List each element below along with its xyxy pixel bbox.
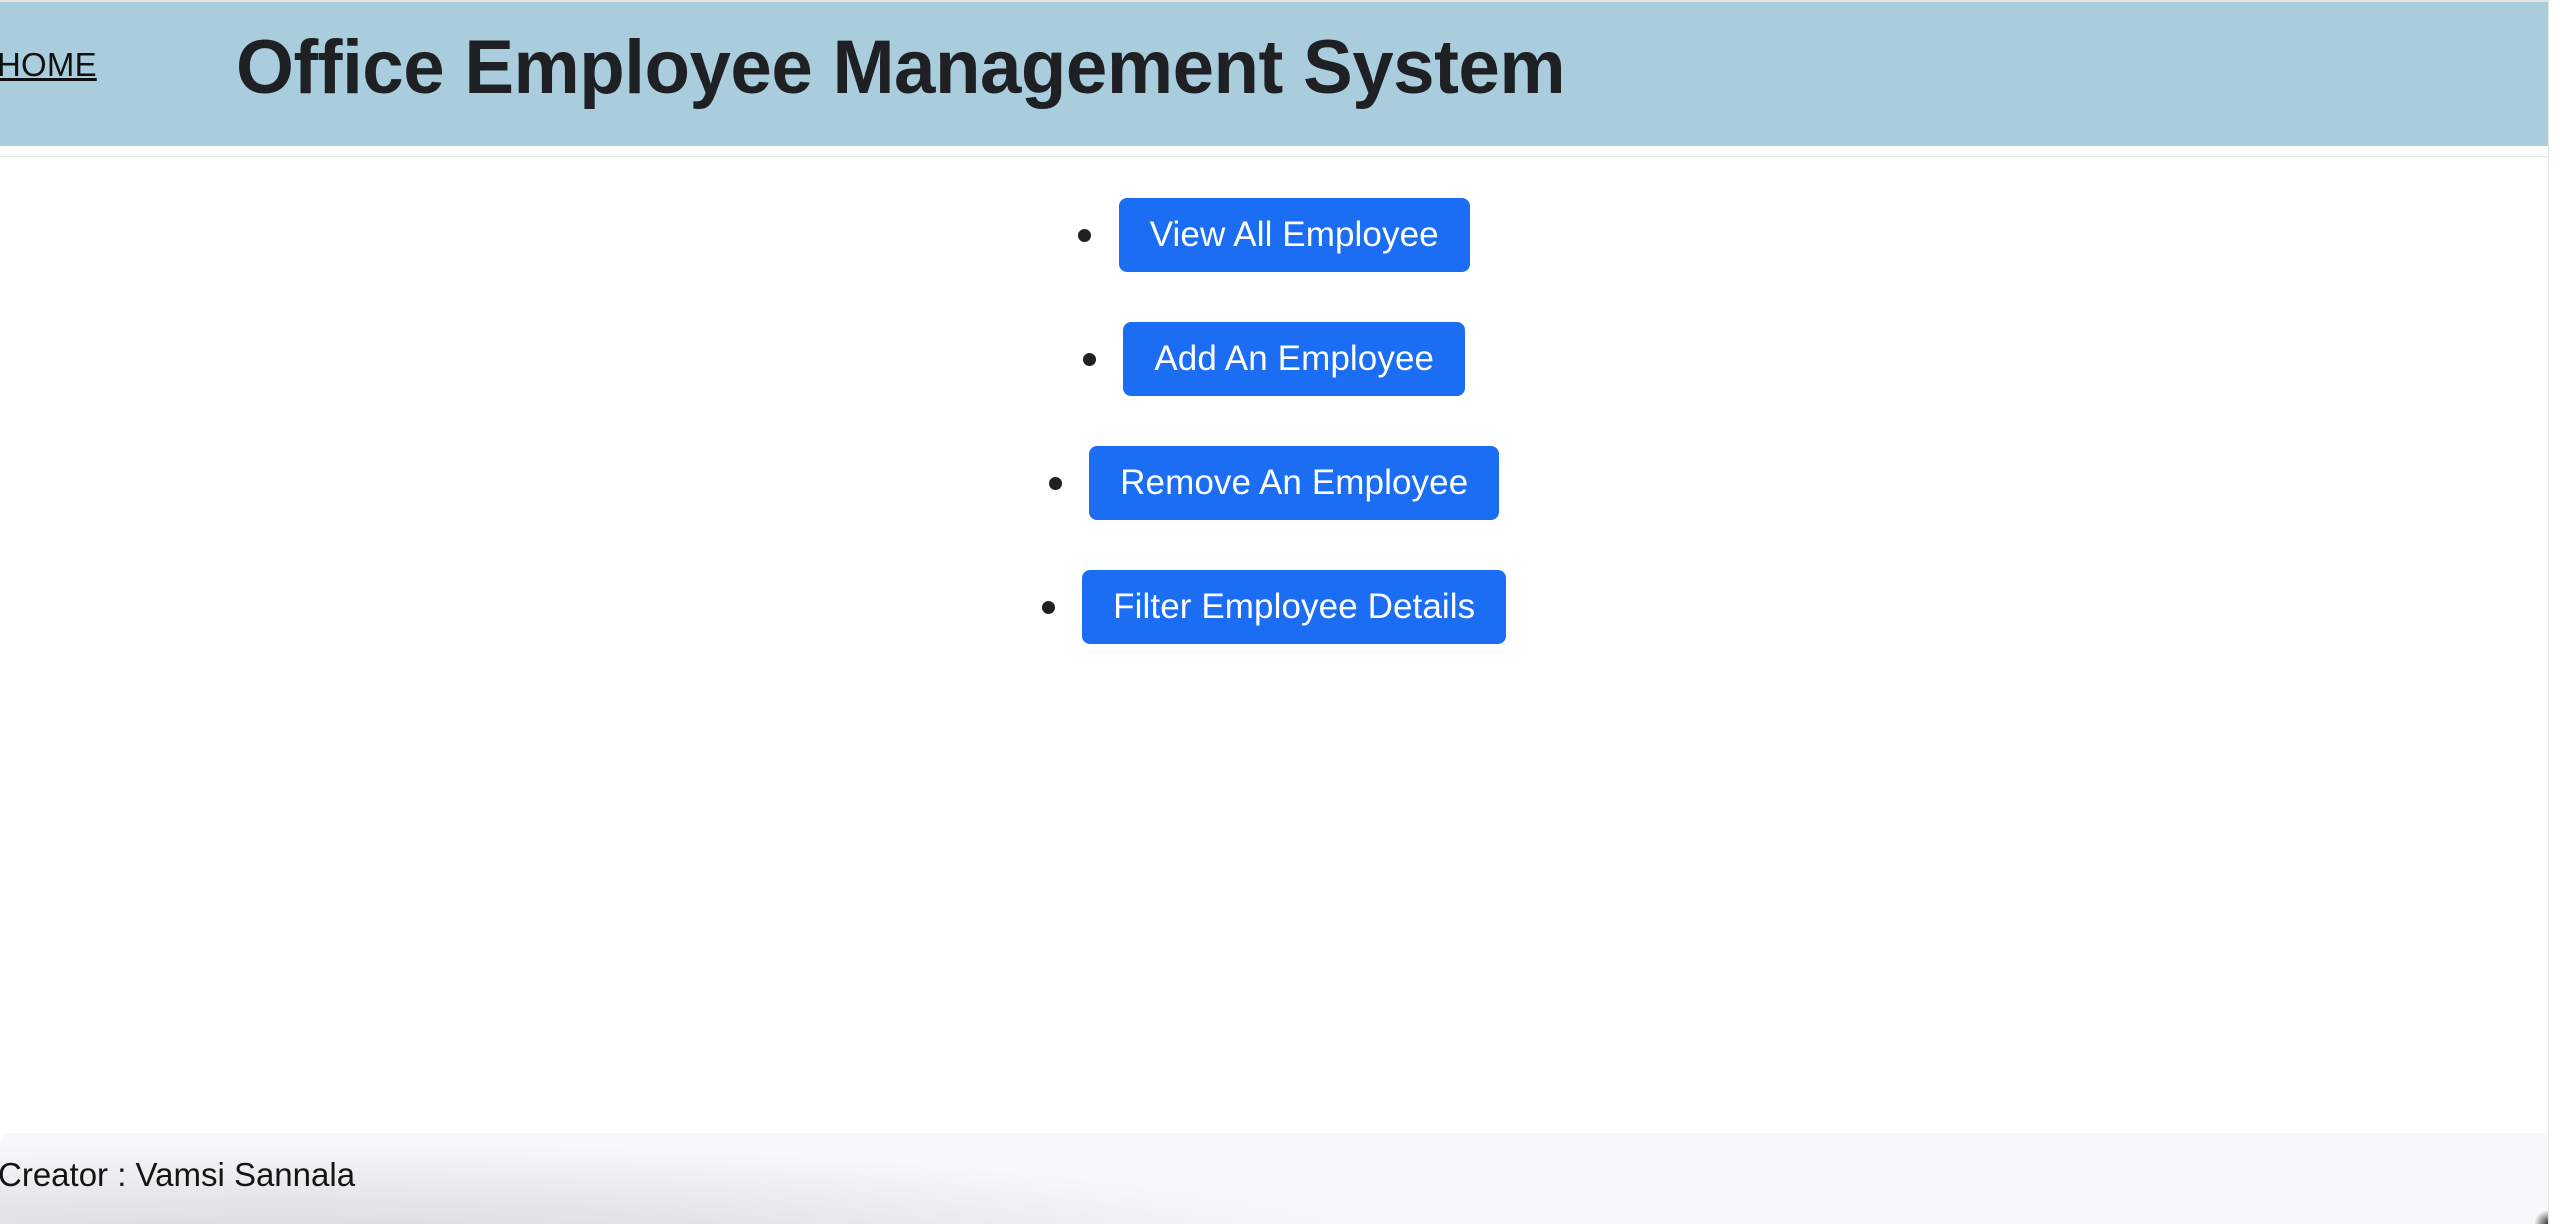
add-an-employee-button[interactable]: Add An Employee: [1123, 322, 1465, 396]
scrollbar-gutter[interactable]: [2548, 0, 2560, 1224]
footer-corner-mark: [2534, 1210, 2548, 1224]
list-item: Filter Employee Details: [0, 570, 2548, 694]
main-menu-list: View All Employee Add An Employee Remove…: [0, 198, 2548, 694]
nav-link-home[interactable]: HOME: [0, 46, 97, 84]
menu-item-inner: Add An Employee: [1083, 322, 1465, 396]
view-all-employee-button[interactable]: View All Employee: [1119, 198, 1470, 272]
menu-item-inner: Remove An Employee: [1049, 446, 1500, 520]
page-root: HOME Office Employee Management System V…: [0, 0, 2560, 1224]
bullet-dot-icon: [1083, 353, 1096, 366]
list-item: Add An Employee: [0, 322, 2548, 446]
list-item: View All Employee: [0, 198, 2548, 322]
menu-item-inner: Filter Employee Details: [1042, 570, 1507, 644]
bullet-dot-icon: [1042, 601, 1055, 614]
menu-item-inner: View All Employee: [1078, 198, 1469, 272]
page-title: Office Employee Management System: [236, 10, 1565, 126]
remove-an-employee-button[interactable]: Remove An Employee: [1089, 446, 1499, 520]
filter-employee-details-button[interactable]: Filter Employee Details: [1082, 570, 1506, 644]
bullet-dot-icon: [1078, 229, 1091, 242]
site-footer: Creator : Vamsi Sannala: [0, 1133, 2548, 1224]
footer-creator-text: Creator : Vamsi Sannala: [0, 1155, 355, 1195]
bullet-dot-icon: [1049, 477, 1062, 490]
site-header: HOME Office Employee Management System: [0, 2, 2548, 146]
list-item: Remove An Employee: [0, 446, 2548, 570]
header-divider: [0, 156, 2548, 157]
